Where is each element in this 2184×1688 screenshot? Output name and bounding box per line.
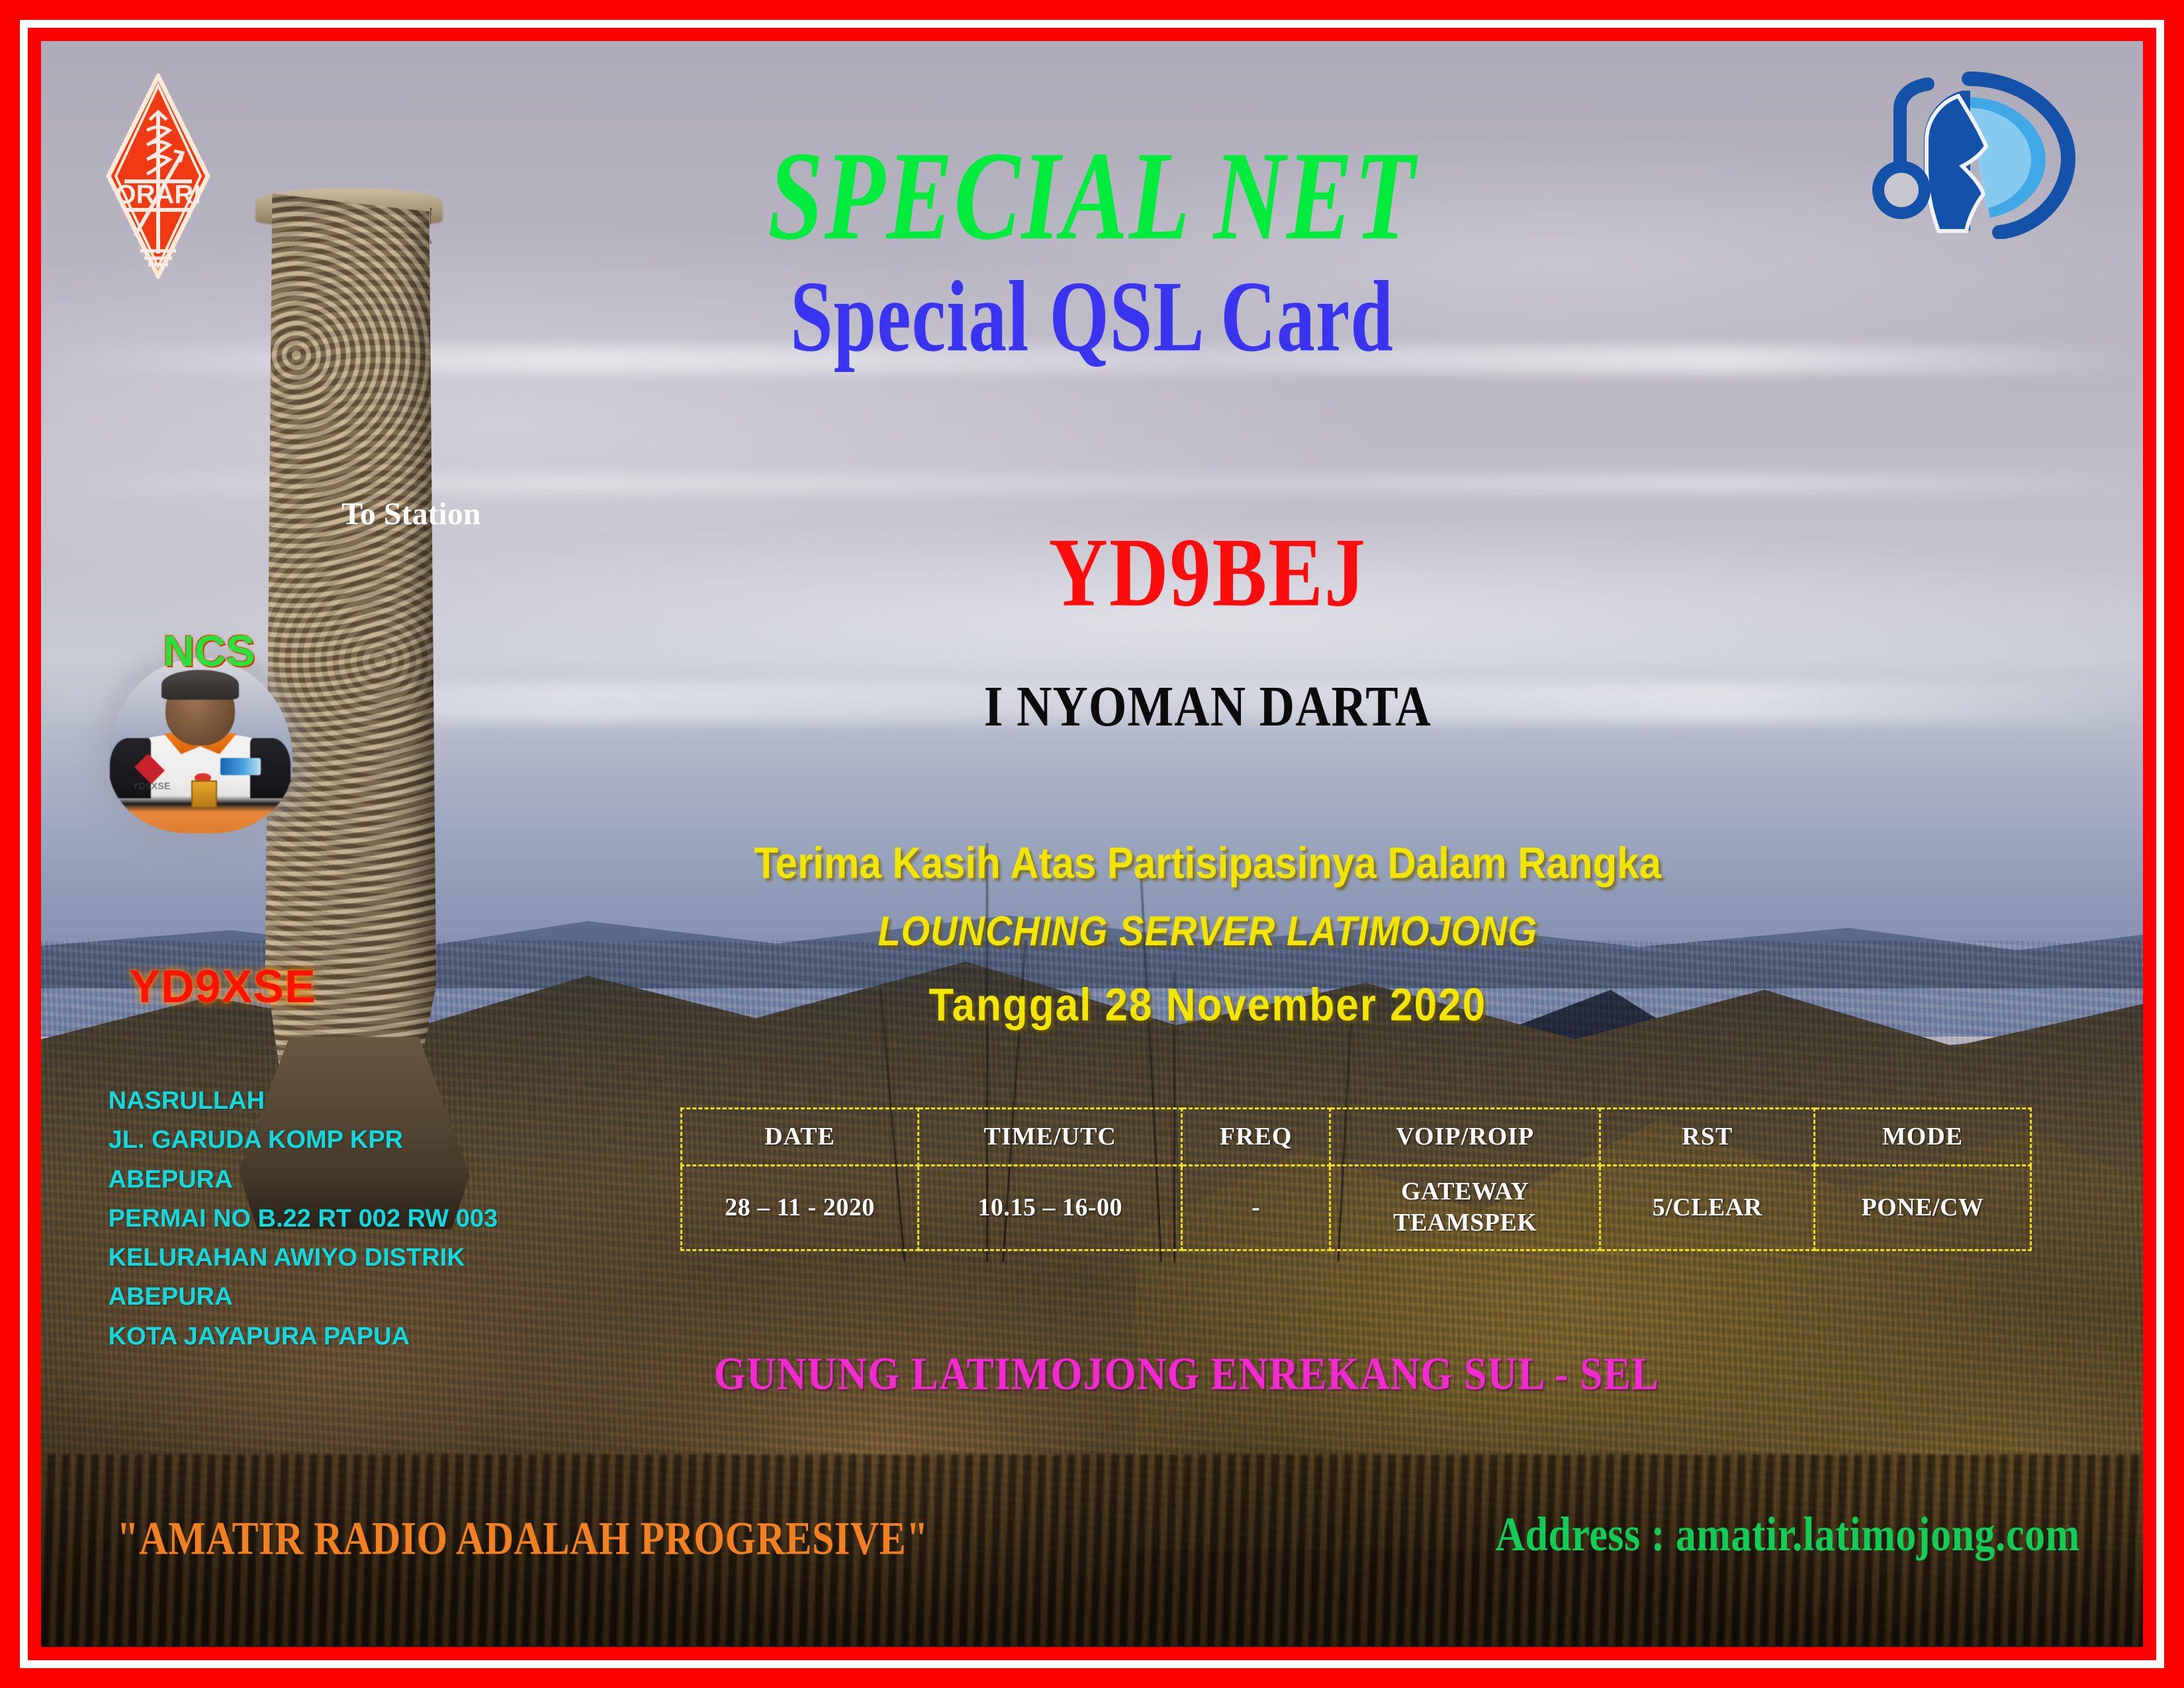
card-inner-red-frame: ORARI YD [28, 28, 2156, 1660]
cell-freq: - [1182, 1165, 1330, 1250]
address-line: NASRULLAH [109, 1082, 498, 1121]
contact-operator-name: I NYOMAN DARTA [41, 674, 2143, 740]
page-title: SPECIAL NET [41, 123, 2143, 269]
col-header-mode: MODE [1815, 1108, 2030, 1165]
col-header-rst: RST [1600, 1108, 1815, 1165]
cell-date: 28 – 11 - 2020 [681, 1165, 919, 1250]
thanks-line-1: Terima Kasih Atas Partisipasinya Dalam R… [41, 837, 2143, 888]
cell-voip: GATEWAYTEAMSPEK [1330, 1165, 1600, 1250]
card-white-frame: ORARI YD [20, 20, 2164, 1668]
card-background-photo: ORARI YD [41, 41, 2143, 1647]
contact-callsign: YD9BEJ [41, 516, 2143, 629]
qsl-card: ORARI YD [0, 0, 2184, 1688]
ncs-label: NCS [163, 626, 255, 676]
station-address-block: NASRULLAHJL. GARUDA KOMP KPRABEPURAPERMA… [109, 1082, 498, 1356]
cell-time: 10.15 – 16-00 [919, 1165, 1182, 1250]
table-header-row: DATE TIME/UTC FREQ VOIP/ROIP RST MODE [681, 1108, 2030, 1165]
footer-web-address: Address : amatir.latimojong.com [1495, 1507, 2079, 1563]
page-subtitle: Special QSL Card [41, 259, 2143, 376]
thanks-line-3: Tanggal 28 November 2020 [41, 979, 2143, 1032]
thanks-line-2: LOUNCHING SERVER LATIMOJONG [41, 907, 2143, 955]
address-line: JL. GARUDA KOMP KPR [109, 1121, 498, 1160]
address-line: KELURAHAN AWIYO DISTRIK [109, 1239, 498, 1278]
col-header-date: DATE [681, 1108, 919, 1165]
table-row: 28 – 11 - 2020 10.15 – 16-00 - GATEWAYTE… [681, 1165, 2030, 1250]
cell-rst: 5/CLEAR [1600, 1165, 1815, 1250]
cell-mode: PONE/CW [1815, 1165, 2030, 1250]
footer-slogan: "AMATIR RADIO ADALAH PROGRESIVE" [116, 1512, 929, 1566]
col-header-voip: VOIP/ROIP [1330, 1108, 1600, 1165]
qso-log-table: DATE TIME/UTC FREQ VOIP/ROIP RST MODE 28… [680, 1107, 2032, 1251]
uniform-callsign-text: YD9XSE [132, 780, 171, 791]
location-caption: GUNUNG LATIMOJONG ENREKANG SUL - SEL [41, 1348, 2143, 1401]
address-line: ABEPURA [109, 1160, 498, 1199]
col-header-time: TIME/UTC [919, 1108, 1182, 1165]
col-header-freq: FREQ [1182, 1108, 1330, 1165]
address-line: PERMAI NO B.22 RT 002 RW 003 [109, 1199, 498, 1239]
address-line: ABEPURA [109, 1278, 498, 1317]
